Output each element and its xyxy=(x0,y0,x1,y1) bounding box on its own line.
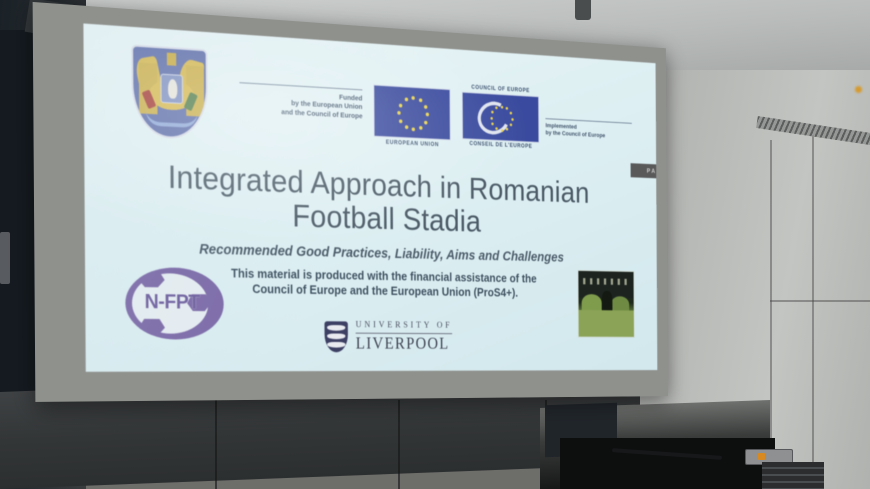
romania-coat-of-arms-icon xyxy=(131,44,208,140)
coe-star-icon xyxy=(495,127,497,130)
projection-screen: Funded by the European Union and the Cou… xyxy=(0,0,870,489)
eu-flag-icon xyxy=(373,85,450,141)
liverpool-logo-line-1: UNIVERSITY OF xyxy=(356,322,453,334)
eu-star-icon xyxy=(424,120,427,124)
slide-bottom-logos: N-FPT UNIVERSITY OF LIVERPOOL xyxy=(97,297,649,372)
nfpt-logo: N-FPT xyxy=(125,266,224,339)
eu-star-icon xyxy=(397,111,400,115)
coe-star-icon xyxy=(490,116,492,119)
eu-star-icon xyxy=(404,125,407,129)
eu-star-icon xyxy=(411,96,414,100)
coe-star-icon xyxy=(510,123,512,126)
council-of-europe-logo: COUNCIL OF EUROPE CONSEIL DE L'EUROPE xyxy=(462,84,540,150)
eu-star-icon xyxy=(424,105,427,109)
room-scene: Funded by the European Union and the Cou… xyxy=(0,0,870,489)
university-of-liverpool-logo: UNIVERSITY OF LIVERPOOL xyxy=(324,321,452,352)
panel-badge-label: PANEL xyxy=(647,168,658,175)
slide-subtitle: Recommended Good Practices, Liability, A… xyxy=(96,240,647,267)
coe-star-icon xyxy=(501,129,503,132)
coe-star-icon xyxy=(506,127,508,130)
eu-star-icon xyxy=(399,103,402,107)
screen-surface: Funded by the European Union and the Cou… xyxy=(83,23,657,371)
eu-star-icon xyxy=(404,98,407,102)
slide-logo-strip: Funded by the European Union and the Cou… xyxy=(95,32,647,174)
funded-by-block: Funded by the European Union and the Cou… xyxy=(239,82,362,120)
implemented-by-block: Implemented by the Council of Europe xyxy=(545,118,632,142)
nfpt-logo-label: N-FPT xyxy=(125,290,218,314)
eu-star-icon xyxy=(419,99,422,103)
liverpool-shield-icon xyxy=(324,321,348,352)
screen-frame: Funded by the European Union and the Cou… xyxy=(33,2,668,402)
eu-star-icon xyxy=(419,126,422,130)
coe-flag-icon xyxy=(462,92,539,143)
liverpool-logo-line-2: LIVERPOOL xyxy=(356,335,453,351)
coe-star-icon xyxy=(509,112,511,115)
european-union-logo: EUROPEAN UNION xyxy=(373,85,450,149)
coe-star-icon xyxy=(511,118,513,121)
book-cover-thumbnail xyxy=(578,270,635,338)
eu-star-icon xyxy=(412,127,415,131)
presentation-slide: Funded by the European Union and the Cou… xyxy=(83,23,657,371)
coe-star-icon xyxy=(500,105,502,108)
eu-logo-caption: EUROPEAN UNION xyxy=(374,139,451,148)
eu-star-icon xyxy=(426,112,429,116)
eu-star-icon xyxy=(399,119,402,123)
panel-badge: PANEL xyxy=(631,163,658,179)
